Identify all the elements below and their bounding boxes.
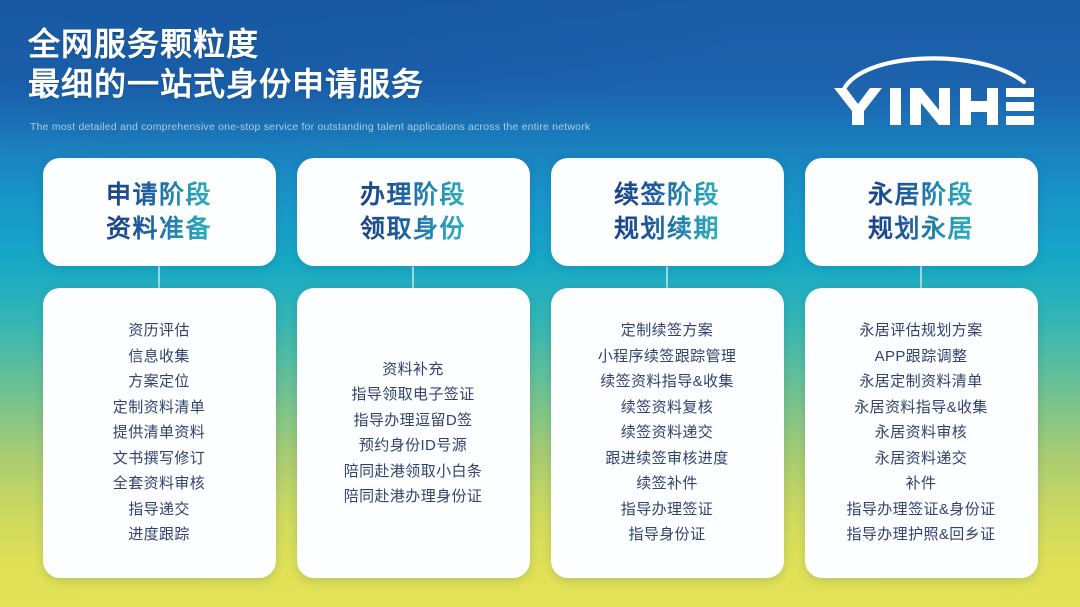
service-list-1: 资历评估 信息收集 方案定位 定制资料清单 提供清单资料 文书撰写修订 全套资料… <box>43 288 276 578</box>
list-item: 指导身份证 <box>628 522 705 548</box>
list-item: 预约身份ID号源 <box>359 433 467 459</box>
title-line-1: 全网服务颗粒度 <box>28 24 424 64</box>
list-item: 文书撰写修订 <box>113 446 205 472</box>
list-item: 全套资料审核 <box>113 471 205 497</box>
stage-card-2-line-1: 办理阶段 <box>360 179 466 211</box>
stage-card-4-line-2: 规划永居 <box>868 213 974 245</box>
service-list-4: 永居评估规划方案 APP跟踪调整 永居定制资料清单 永居资料指导&收集 永居资料… <box>805 288 1038 578</box>
list-item: 永居资料递交 <box>875 446 967 472</box>
list-item: 陪同赴港领取小白条 <box>344 459 483 485</box>
list-item: 永居定制资料清单 <box>859 369 982 395</box>
stage-columns: 申请阶段 资料准备 资历评估 信息收集 方案定位 定制资料清单 提供清单资料 文… <box>0 158 1080 578</box>
list-item: 指导办理护照&回乡证 <box>846 522 995 548</box>
list-item: 续签资料递交 <box>621 420 713 446</box>
list-item: 小程序续签跟踪管理 <box>598 344 737 370</box>
list-item: APP跟踪调整 <box>875 344 968 370</box>
list-item: 方案定位 <box>128 369 190 395</box>
list-item: 续签资料指导&收集 <box>600 369 734 395</box>
page-subtitle: The most detailed and comprehensive one-… <box>30 121 590 133</box>
list-item: 信息收集 <box>128 344 190 370</box>
page-header: 全网服务颗粒度 最细的一站式身份申请服务 The most detailed a… <box>0 0 1080 150</box>
page-title: 全网服务颗粒度 最细的一站式身份申请服务 <box>28 24 424 104</box>
list-item: 补件 <box>906 471 937 497</box>
list-item: 定制资料清单 <box>113 395 205 421</box>
stage-card-1[interactable]: 申请阶段 资料准备 <box>43 158 276 266</box>
list-item: 指导领取电子签证 <box>351 382 474 408</box>
stage-column-4: 永居阶段 规划永居 永居评估规划方案 APP跟踪调整 永居定制资料清单 永居资料… <box>805 158 1038 578</box>
list-item: 指导办理签证&身份证 <box>846 497 995 523</box>
list-item: 永居评估规划方案 <box>859 318 982 344</box>
list-item: 指导办理签证 <box>621 497 713 523</box>
service-list-2: 资料补充 指导领取电子签证 指导办理逗留D签 预约身份ID号源 陪同赴港领取小白… <box>297 288 530 578</box>
stage-card-1-line-2: 资料准备 <box>106 213 212 245</box>
stage-column-3: 续签阶段 规划续期 定制续签方案 小程序续签跟踪管理 续签资料指导&收集 续签资… <box>551 158 784 578</box>
list-item: 指导办理逗留D签 <box>353 408 472 434</box>
logo-wordmark-icon <box>834 88 1034 125</box>
stage-card-3-line-2: 规划续期 <box>614 213 720 245</box>
title-line-2: 最细的一站式身份申请服务 <box>28 64 424 104</box>
stage-card-3-line-1: 续签阶段 <box>614 179 720 211</box>
stage-card-2-line-2: 领取身份 <box>360 213 466 245</box>
stage-column-1: 申请阶段 资料准备 资历评估 信息收集 方案定位 定制资料清单 提供清单资料 文… <box>43 158 276 578</box>
list-item: 续签资料复核 <box>621 395 713 421</box>
list-item: 进度跟踪 <box>128 522 190 548</box>
list-item: 续签补件 <box>636 471 698 497</box>
stage-column-2: 办理阶段 领取身份 资料补充 指导领取电子签证 指导办理逗留D签 预约身份ID号… <box>297 158 530 578</box>
connector-line-3 <box>666 266 668 288</box>
yinhe-logo <box>828 44 1038 128</box>
stage-card-4[interactable]: 永居阶段 规划永居 <box>805 158 1038 266</box>
list-item: 陪同赴港办理身份证 <box>344 484 483 510</box>
list-item: 指导递交 <box>128 497 190 523</box>
stage-card-1-line-1: 申请阶段 <box>106 179 212 211</box>
connector-line-1 <box>158 266 160 288</box>
connector-line-2 <box>412 266 414 288</box>
list-item: 资料补充 <box>382 357 444 383</box>
connector-line-4 <box>920 266 922 288</box>
stage-card-4-line-1: 永居阶段 <box>868 179 974 211</box>
list-item: 永居资料审核 <box>875 420 967 446</box>
list-item: 资历评估 <box>128 318 190 344</box>
list-item: 跟进续签审核进度 <box>605 446 728 472</box>
service-list-3: 定制续签方案 小程序续签跟踪管理 续签资料指导&收集 续签资料复核 续签资料递交… <box>551 288 784 578</box>
list-item: 提供清单资料 <box>113 420 205 446</box>
stage-card-3[interactable]: 续签阶段 规划续期 <box>551 158 784 266</box>
stage-card-2[interactable]: 办理阶段 领取身份 <box>297 158 530 266</box>
list-item: 永居资料指导&收集 <box>854 395 988 421</box>
list-item: 定制续签方案 <box>621 318 713 344</box>
